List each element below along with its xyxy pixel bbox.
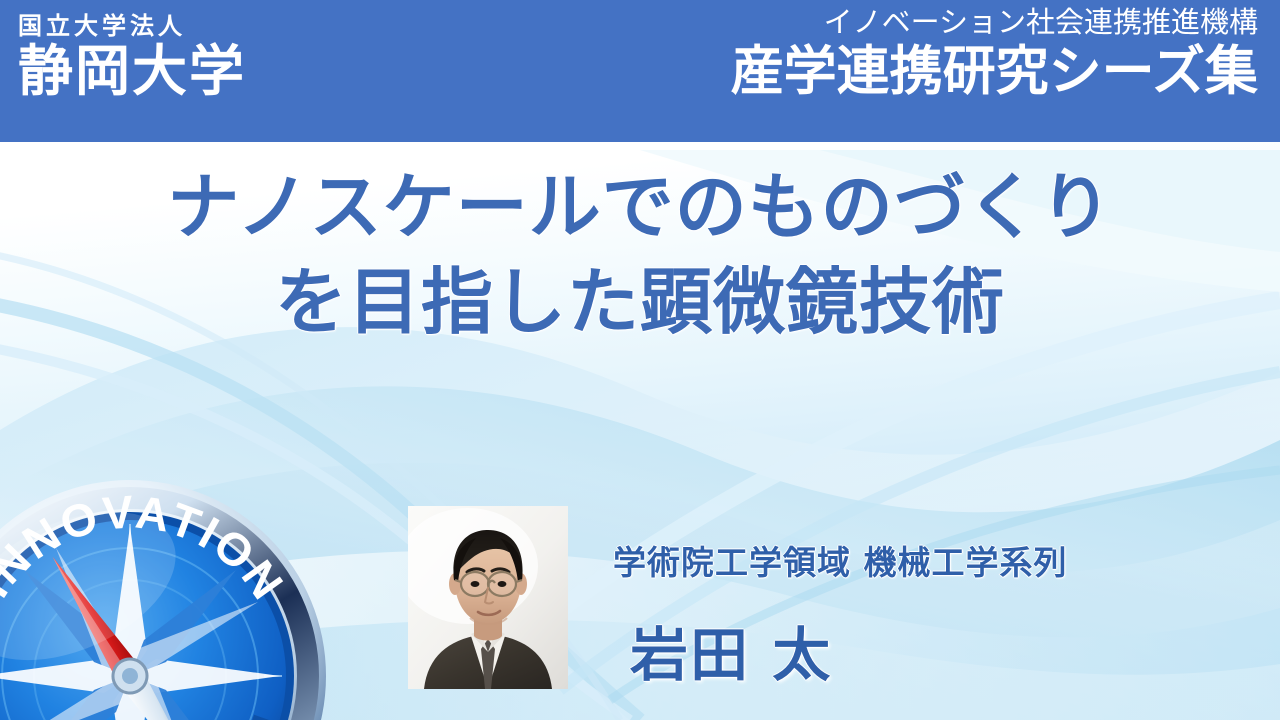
title-line-1: ナノスケールでのものづくり [0, 160, 1280, 255]
slide-title: ナノスケールでのものづくり を目指した顕微鏡技術 [0, 160, 1280, 350]
organization-label: イノベーション社会連携推進機構 [731, 8, 1258, 37]
university-logo: 国立大学法人 静岡大学 [18, 14, 246, 99]
header-right-block: イノベーション社会連携推進機構 産学連携研究シーズ集 [731, 8, 1258, 98]
presenter-photo [408, 506, 568, 689]
university-name-label: 静岡大学 [18, 44, 246, 99]
presentation-slide: 国立大学法人 静岡大学 イノベーション社会連携推進機構 産学連携研究シーズ集 ナ… [0, 0, 1280, 720]
title-line-2: を目指した顕微鏡技術 [0, 255, 1280, 350]
header-bar: 国立大学法人 静岡大学 イノベーション社会連携推進機構 産学連携研究シーズ集 [0, 0, 1280, 142]
series-title-label: 産学連携研究シーズ集 [731, 45, 1258, 98]
presenter-name: 岩田 太 [630, 608, 832, 692]
presenter-affiliation: 学術院工学領域 機械工学系列 [613, 536, 1068, 584]
university-prefix-label: 国立大学法人 [18, 14, 246, 38]
